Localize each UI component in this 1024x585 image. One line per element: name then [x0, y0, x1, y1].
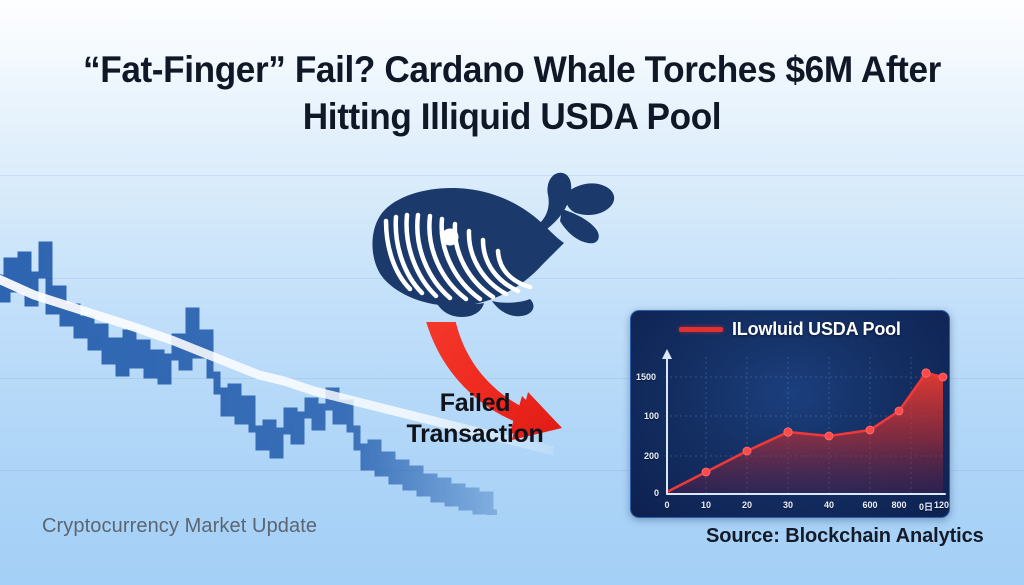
x-tick-5: 600	[857, 500, 883, 510]
inset-chart-panel: ILowluid USDA Pool 0 200 100 1500 0 10 2…	[630, 310, 950, 518]
x-tick-2: 20	[734, 500, 760, 510]
infographic-canvas: “Fat-Finger” Fail? Cardano Whale Torches…	[0, 0, 1024, 585]
whale-icon	[352, 165, 622, 330]
x-tick-0: 0	[654, 500, 680, 510]
y-tick-1: 200	[633, 451, 659, 461]
headline: “Fat-Finger” Fail? Cardano Whale Torches…	[73, 46, 951, 140]
chart-legend: ILowluid USDA Pool	[679, 319, 901, 340]
x-tick-1: 10	[693, 500, 719, 510]
y-tick-2: 100	[633, 411, 659, 421]
caption-left: Cryptocurrency Market Update	[42, 515, 317, 538]
x-tick-6: 800	[886, 500, 912, 510]
x-tick-8: 1200	[931, 500, 950, 510]
failed-label-line-1: Failed	[372, 388, 578, 419]
legend-label: ILowluid USDA Pool	[732, 319, 901, 340]
y-tick-3: 1500	[630, 372, 656, 382]
inset-chart-plot	[631, 311, 949, 517]
legend-swatch-icon	[679, 327, 723, 332]
failed-transaction-label: Failed Transaction	[372, 388, 578, 450]
y-tick-0: 0	[633, 488, 659, 498]
headline-line-1: “Fat-Finger” Fail? Cardano Whale Torches…	[73, 46, 951, 93]
x-tick-4: 40	[816, 500, 842, 510]
headline-line-2: Hitting Illiquid USDA Pool	[73, 93, 951, 140]
failed-label-line-2: Transaction	[372, 419, 578, 450]
x-tick-3: 30	[775, 500, 801, 510]
caption-right: Source: Blockchain Analytics	[706, 525, 984, 548]
